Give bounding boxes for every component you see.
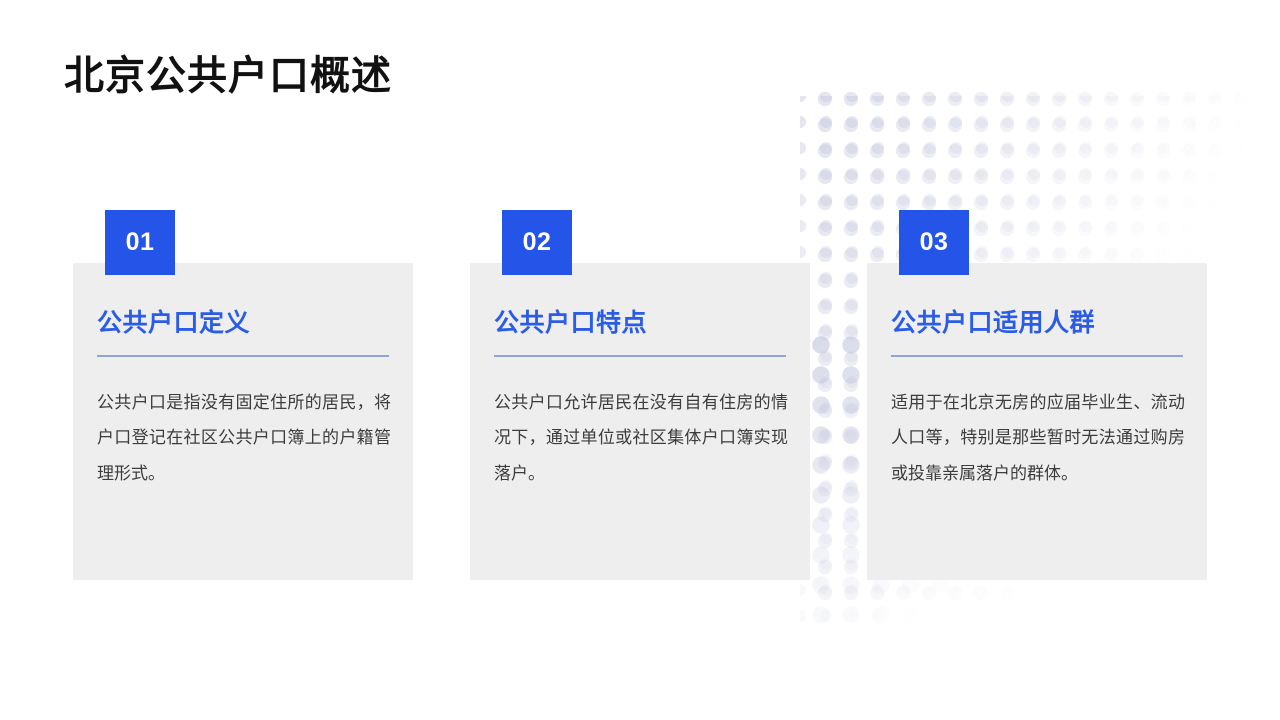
card-number-badge-03: 03 (899, 210, 969, 275)
card-divider-02 (494, 355, 786, 357)
card-divider-01 (97, 355, 389, 357)
card-number-badge-01: 01 (105, 210, 175, 275)
card-number-badge-02: 02 (502, 210, 572, 275)
page-title: 北京公共户口概述 (64, 52, 392, 100)
info-card-02: 02 公共户口特点 公共户口允许居民在没有自有住房的情况下，通过单位或社区集体户… (470, 263, 810, 580)
info-card-01: 01 公共户口定义 公共户口是指没有固定住所的居民，将户口登记在社区公共户口簿上… (73, 263, 413, 580)
card-heading-01: 公共户口定义 (97, 303, 250, 339)
card-body-03: 适用于在北京无房的应届毕业生、流动人口等，特别是那些暂时无法通过购房或投靠亲属落… (891, 385, 1185, 491)
info-card-03: 03 公共户口适用人群 适用于在北京无房的应届毕业生、流动人口等，特别是那些暂时… (867, 263, 1207, 580)
card-heading-03: 公共户口适用人群 (891, 303, 1095, 339)
card-divider-03 (891, 355, 1183, 357)
slide-canvas: 北京公共户口概述 01 公共户口定义 公共户口是指没有固定住所的居民，将户口登记… (0, 0, 1280, 720)
card-heading-02: 公共户口特点 (494, 303, 647, 339)
card-body-02: 公共户口允许居民在没有自有住房的情况下，通过单位或社区集体户口簿实现落户。 (494, 385, 788, 491)
card-body-01: 公共户口是指没有固定住所的居民，将户口登记在社区公共户口簿上的户籍管理形式。 (97, 385, 391, 491)
